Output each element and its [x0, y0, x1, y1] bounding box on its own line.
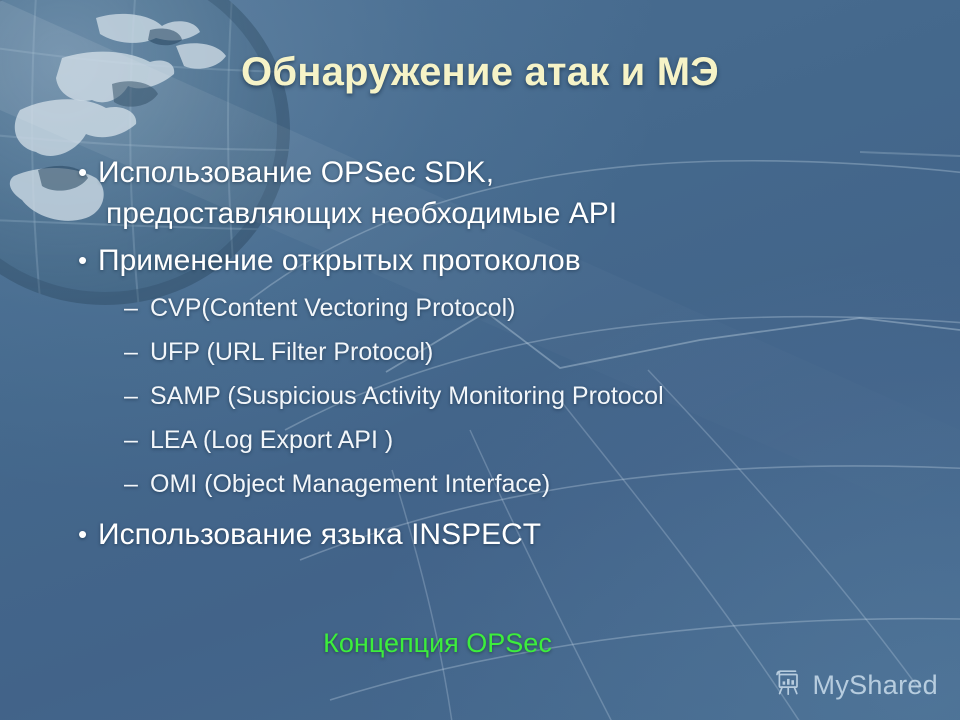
- dash-bullet-icon: –: [124, 286, 138, 330]
- sub-bullet-text: CVP(Content Vectoring Protocol): [150, 294, 515, 322]
- myshared-watermark: MyShared: [771, 668, 938, 702]
- sub-bullet-text: LEA (Log Export API ): [150, 426, 393, 454]
- bullet-dot-icon: •: [78, 514, 87, 555]
- dash-bullet-icon: –: [124, 418, 138, 462]
- sub-bullet-level2: – SAMP (Suspicious Activity Monitoring P…: [70, 374, 910, 418]
- sub-bullet-level2: – UFP (URL Filter Protocol): [70, 330, 910, 374]
- sub-bullet-text: OMI (Object Management Interface): [150, 470, 550, 498]
- bullet-text-continuation: предоставляющих необходимые API: [98, 193, 910, 234]
- dash-bullet-icon: –: [124, 330, 138, 374]
- bullet-text: Использование языка INSPECT: [98, 514, 910, 555]
- dash-bullet-icon: –: [124, 374, 138, 418]
- bullet-text: Применение открытых протоколов: [98, 240, 910, 281]
- sub-bullet-level2: – LEA (Log Export API ): [70, 418, 910, 462]
- sub-bullet-text: UFP (URL Filter Protocol): [150, 338, 433, 366]
- bullet-list: • Использование OPSec SDK, предоставляющ…: [70, 152, 910, 560]
- presentation-slide: Обнаружение атак и МЭ • Использование OP…: [0, 0, 960, 720]
- sub-bullet-level2: – CVP(Content Vectoring Protocol): [70, 286, 910, 330]
- footer-caption: Концепция OPSec: [0, 628, 875, 659]
- slide-title: Обнаружение атак и МЭ: [0, 50, 960, 95]
- bullet-dot-icon: •: [78, 240, 87, 281]
- bullet-text: Использование OPSec SDK,: [98, 156, 494, 189]
- bullet-dot-icon: •: [78, 152, 87, 193]
- bullet-level1: • Использование языка INSPECT: [70, 514, 910, 555]
- sub-bullet-level2: – OMI (Object Management Interface): [70, 462, 910, 506]
- dash-bullet-icon: –: [124, 462, 138, 506]
- bullet-level1: • Использование OPSec SDK, предоставляющ…: [70, 152, 910, 234]
- flipchart-bar-chart-icon: [771, 668, 805, 702]
- bullet-level1: • Применение открытых протоколов: [70, 240, 910, 281]
- watermark-label: MyShared: [813, 670, 938, 701]
- sub-bullet-text: SAMP (Suspicious Activity Monitoring Pro…: [150, 382, 664, 410]
